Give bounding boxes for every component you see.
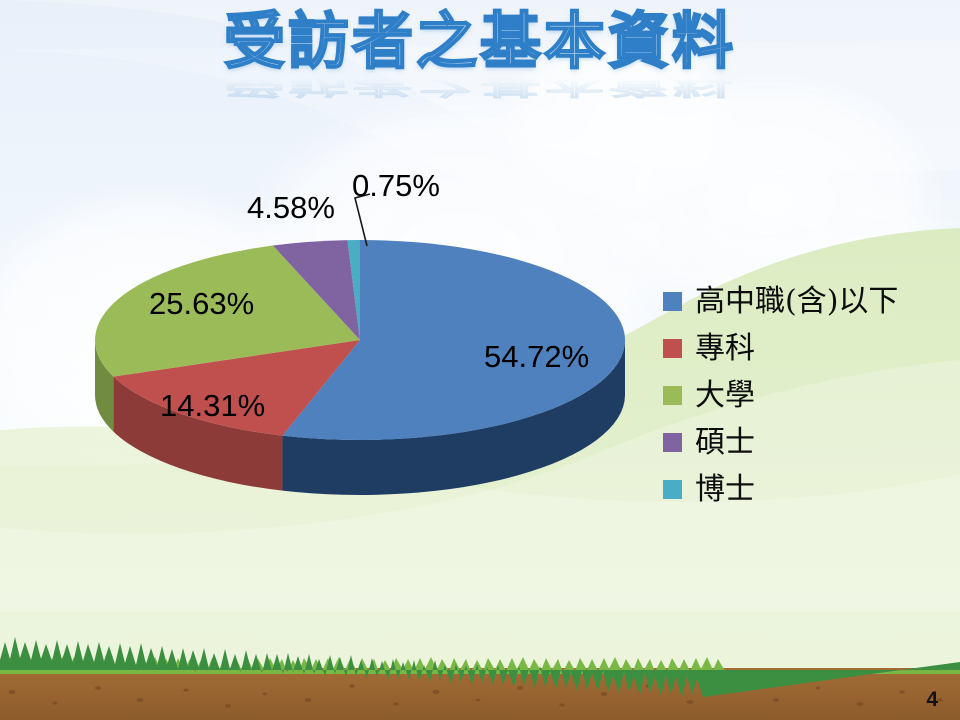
slide-title-block: 受訪者之基本資料 受訪者之基本資料 [0, 10, 960, 140]
data-label-master: 4.58% [247, 192, 335, 223]
legend-item-label: 大學 [695, 381, 755, 411]
legend-swatch-icon [663, 292, 682, 311]
legend-swatch-icon [663, 339, 682, 358]
data-label-junior-college: 14.31% [160, 390, 265, 421]
legend-item-senior-high[interactable]: 高中職(含)以下 [663, 278, 933, 325]
slide-number: 4 [926, 688, 938, 712]
legend-item-label: 專科 [695, 334, 755, 364]
legend-item-university[interactable]: 大學 [663, 372, 933, 419]
data-label-doctorate: 0.75% [352, 170, 440, 201]
legend-item-label: 高中職(含)以下 [695, 287, 898, 317]
soil-specks [9, 684, 944, 708]
page-title: 受訪者之基本資料 [224, 10, 736, 75]
legend-swatch-icon [663, 480, 682, 499]
legend-item-master[interactable]: 碩士 [663, 419, 933, 466]
legend-item-junior-college[interactable]: 專科 [663, 325, 933, 372]
data-label-senior-high: 54.72% [484, 341, 589, 372]
legend-item-label: 博士 [695, 475, 755, 505]
legend-swatch-icon [663, 386, 682, 405]
grass-light [0, 655, 960, 674]
chart-legend: 高中職(含)以下 專科 大學 碩士 博士 [663, 278, 933, 513]
grass-dark [0, 637, 960, 697]
pie-chart[interactable]: 54.72% 14.31% 25.63% 4.58% 0.75% [60, 150, 680, 550]
legend-swatch-icon [663, 433, 682, 452]
legend-item-doctorate[interactable]: 博士 [663, 466, 933, 513]
soil-strip [0, 668, 960, 720]
data-label-university: 25.63% [149, 288, 254, 319]
presentation-slide: 受訪者之基本資料 受訪者之基本資料 [0, 0, 960, 720]
legend-item-label: 碩士 [695, 428, 755, 458]
